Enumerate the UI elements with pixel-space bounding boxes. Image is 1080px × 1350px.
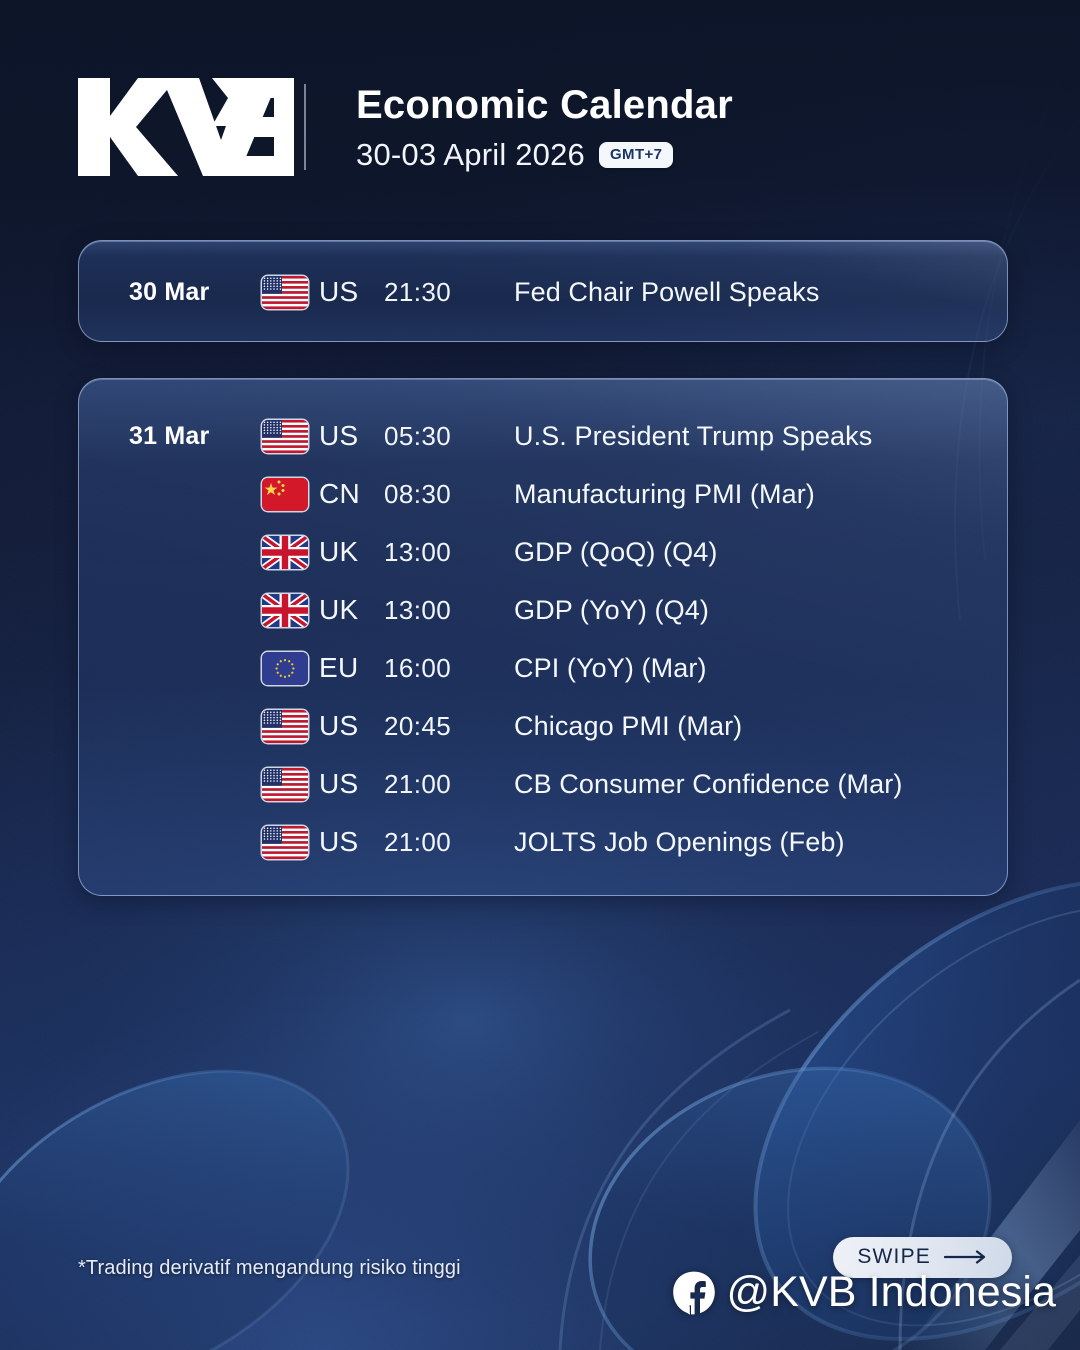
row-event: Fed Chair Powell Speaks [514, 277, 819, 308]
row-event: CPI (YoY) (Mar) [514, 653, 707, 684]
row-date: 31 Mar [79, 422, 256, 451]
date-range: 30-03 April 2026 [356, 137, 585, 173]
flag-us [262, 710, 308, 743]
page-header: Economic Calendar 30-03 April 2026 GMT+7 [78, 78, 733, 176]
event-row: UK13:00GDP (YoY) (Q4) [79, 581, 1007, 639]
event-rows: 31 Mar US05:30U.S. President Trump Speak… [79, 379, 1007, 871]
country-code: US [319, 276, 359, 308]
row-time: 08:30 [384, 479, 514, 510]
kvb-logo-icon [78, 78, 294, 176]
row-event: Manufacturing PMI (Mar) [514, 479, 815, 510]
event-row: 31 Mar US05:30U.S. President Trump Speak… [79, 407, 1007, 465]
country-code: UK [319, 594, 359, 626]
row-event: U.S. President Trump Speaks [514, 421, 872, 452]
country-code: EU [319, 652, 359, 684]
timezone-badge: GMT+7 [599, 142, 673, 168]
flag-cn [262, 478, 308, 511]
row-time: 13:00 [384, 595, 514, 626]
row-time: 13:00 [384, 537, 514, 568]
row-country: US [256, 710, 384, 743]
country-code: CN [319, 478, 360, 510]
event-rows: 30 Mar US21:30Fed Chair Powell Speaks [79, 241, 1007, 321]
arrow-right-icon [944, 1250, 990, 1264]
event-row: CN08:30Manufacturing PMI (Mar) [79, 465, 1007, 523]
row-time: 16:00 [384, 653, 514, 684]
risk-disclaimer: *Trading derivatif mengandung risiko tin… [78, 1257, 461, 1280]
page-title: Economic Calendar [356, 83, 733, 128]
country-code: US [319, 768, 359, 800]
swipe-label: SWIPE [857, 1245, 931, 1269]
flag-us [262, 276, 308, 309]
flag-us [262, 768, 308, 801]
row-event: GDP (YoY) (Q4) [514, 595, 709, 626]
flag-uk [262, 594, 308, 627]
event-row: 30 Mar US21:30Fed Chair Powell Speaks [79, 263, 1007, 321]
row-event: JOLTS Job Openings (Feb) [514, 827, 845, 858]
country-code: UK [319, 536, 359, 568]
handle-text: @KVB Indonesia [726, 1268, 1056, 1317]
row-country: US [256, 768, 384, 801]
social-handle[interactable]: @KVB Indonesia [671, 1268, 1056, 1317]
event-row: UK13:00GDP (QoQ) (Q4) [79, 523, 1007, 581]
row-date: 30 Mar [79, 278, 256, 307]
row-time: 21:00 [384, 827, 514, 858]
row-time: 20:45 [384, 711, 514, 742]
row-event: GDP (QoQ) (Q4) [514, 537, 717, 568]
row-country: UK [256, 536, 384, 569]
row-country: US [256, 276, 384, 309]
calendar-card-day-1: 30 Mar US21:30Fed Chair Powell Speaks [78, 240, 1008, 342]
facebook-icon[interactable] [671, 1270, 717, 1316]
country-code: US [319, 826, 359, 858]
flag-uk [262, 536, 308, 569]
event-row: US21:00CB Consumer Confidence (Mar) [79, 755, 1007, 813]
row-time: 21:30 [384, 277, 514, 308]
calendar-card-day-2: 31 Mar US05:30U.S. President Trump Speak… [78, 378, 1008, 896]
row-country: US [256, 420, 384, 453]
row-event: CB Consumer Confidence (Mar) [514, 769, 902, 800]
row-time: 21:00 [384, 769, 514, 800]
row-country: UK [256, 594, 384, 627]
row-country: US [256, 826, 384, 859]
flag-us [262, 826, 308, 859]
header-divider [304, 84, 306, 170]
row-event: Chicago PMI (Mar) [514, 711, 742, 742]
event-row: EU16:00CPI (YoY) (Mar) [79, 639, 1007, 697]
event-row: US20:45Chicago PMI (Mar) [79, 697, 1007, 755]
row-country: EU [256, 652, 384, 685]
flag-eu [262, 652, 308, 685]
event-row: US21:00JOLTS Job Openings (Feb) [79, 813, 1007, 871]
row-time: 05:30 [384, 421, 514, 452]
row-country: CN [256, 478, 384, 511]
country-code: US [319, 420, 359, 452]
flag-us [262, 420, 308, 453]
country-code: US [319, 710, 359, 742]
